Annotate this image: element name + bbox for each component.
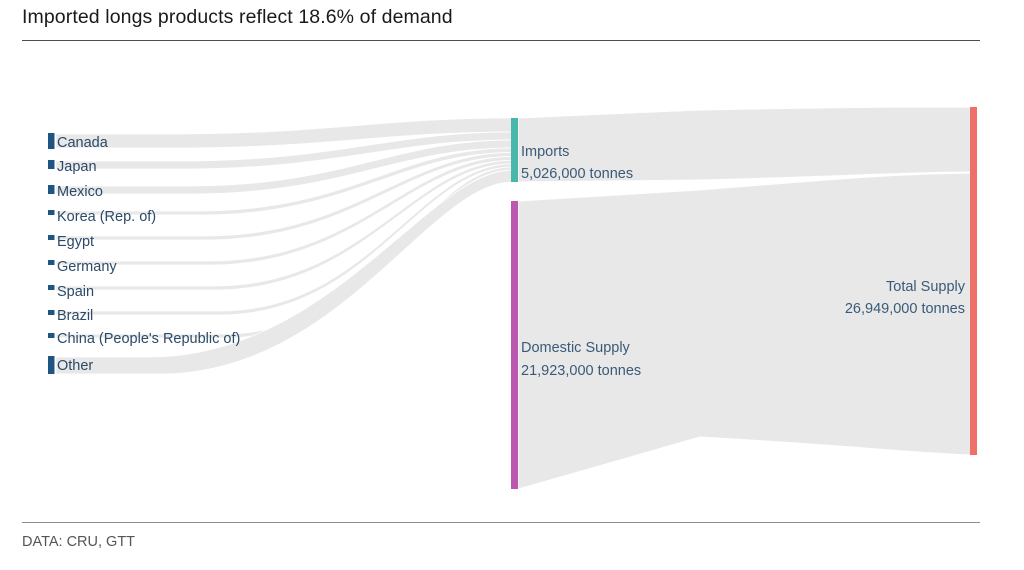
- node-bar-china[interactable]: [48, 333, 55, 338]
- node-bar-brazil[interactable]: [48, 310, 55, 315]
- node-bar-spain[interactable]: [48, 285, 55, 290]
- node-value-domestic-supply: 21,923,000 tonnes: [521, 363, 641, 379]
- node-value-imports: 5,026,000 tonnes: [521, 166, 633, 182]
- source-label-korea: Korea (Rep. of): [57, 209, 156, 225]
- source-label-canada: Canada: [57, 135, 109, 151]
- node-bar-domestic-supply[interactable]: [511, 201, 518, 489]
- source-label-other: Other: [57, 358, 93, 374]
- source-label-egypt: Egypt: [57, 234, 94, 250]
- source-label-brazil: Brazil: [57, 308, 93, 324]
- source-label-china: China (People's Republic of): [57, 331, 240, 347]
- node-label-domestic-supply: Domestic Supply: [521, 340, 631, 356]
- footer-divider: [22, 522, 980, 523]
- source-label-japan: Japan: [57, 159, 97, 175]
- sankey-chart-root: Imported longs products reflect 18.6% of…: [0, 0, 1024, 570]
- source-label-mexico: Mexico: [57, 184, 103, 200]
- source-label-spain: Spain: [57, 284, 94, 300]
- node-label-total-supply: Total Supply: [886, 279, 966, 295]
- sankey-diagram: Canada Japan Mexico Korea (Rep. of) Egyp…: [0, 0, 1024, 570]
- node-bar-mexico[interactable]: [48, 185, 55, 194]
- node-bar-total-supply[interactable]: [970, 107, 977, 455]
- node-bar-germany[interactable]: [48, 260, 55, 265]
- data-source-note: DATA: CRU, GTT: [22, 534, 135, 550]
- node-bar-japan[interactable]: [48, 160, 55, 169]
- source-label-germany: Germany: [57, 259, 117, 275]
- node-bar-imports[interactable]: [511, 118, 518, 182]
- source-nodes: [48, 133, 55, 374]
- node-bar-egypt[interactable]: [48, 235, 55, 240]
- flow-domestic-to-total: [518, 173, 971, 489]
- node-bar-canada[interactable]: [48, 133, 55, 149]
- node-bar-other[interactable]: [48, 356, 55, 374]
- node-label-imports: Imports: [521, 144, 569, 160]
- source-labels: Canada Japan Mexico Korea (Rep. of) Egyp…: [57, 135, 240, 374]
- node-value-total-supply: 26,949,000 tonnes: [845, 301, 965, 317]
- node-bar-korea[interactable]: [48, 210, 55, 215]
